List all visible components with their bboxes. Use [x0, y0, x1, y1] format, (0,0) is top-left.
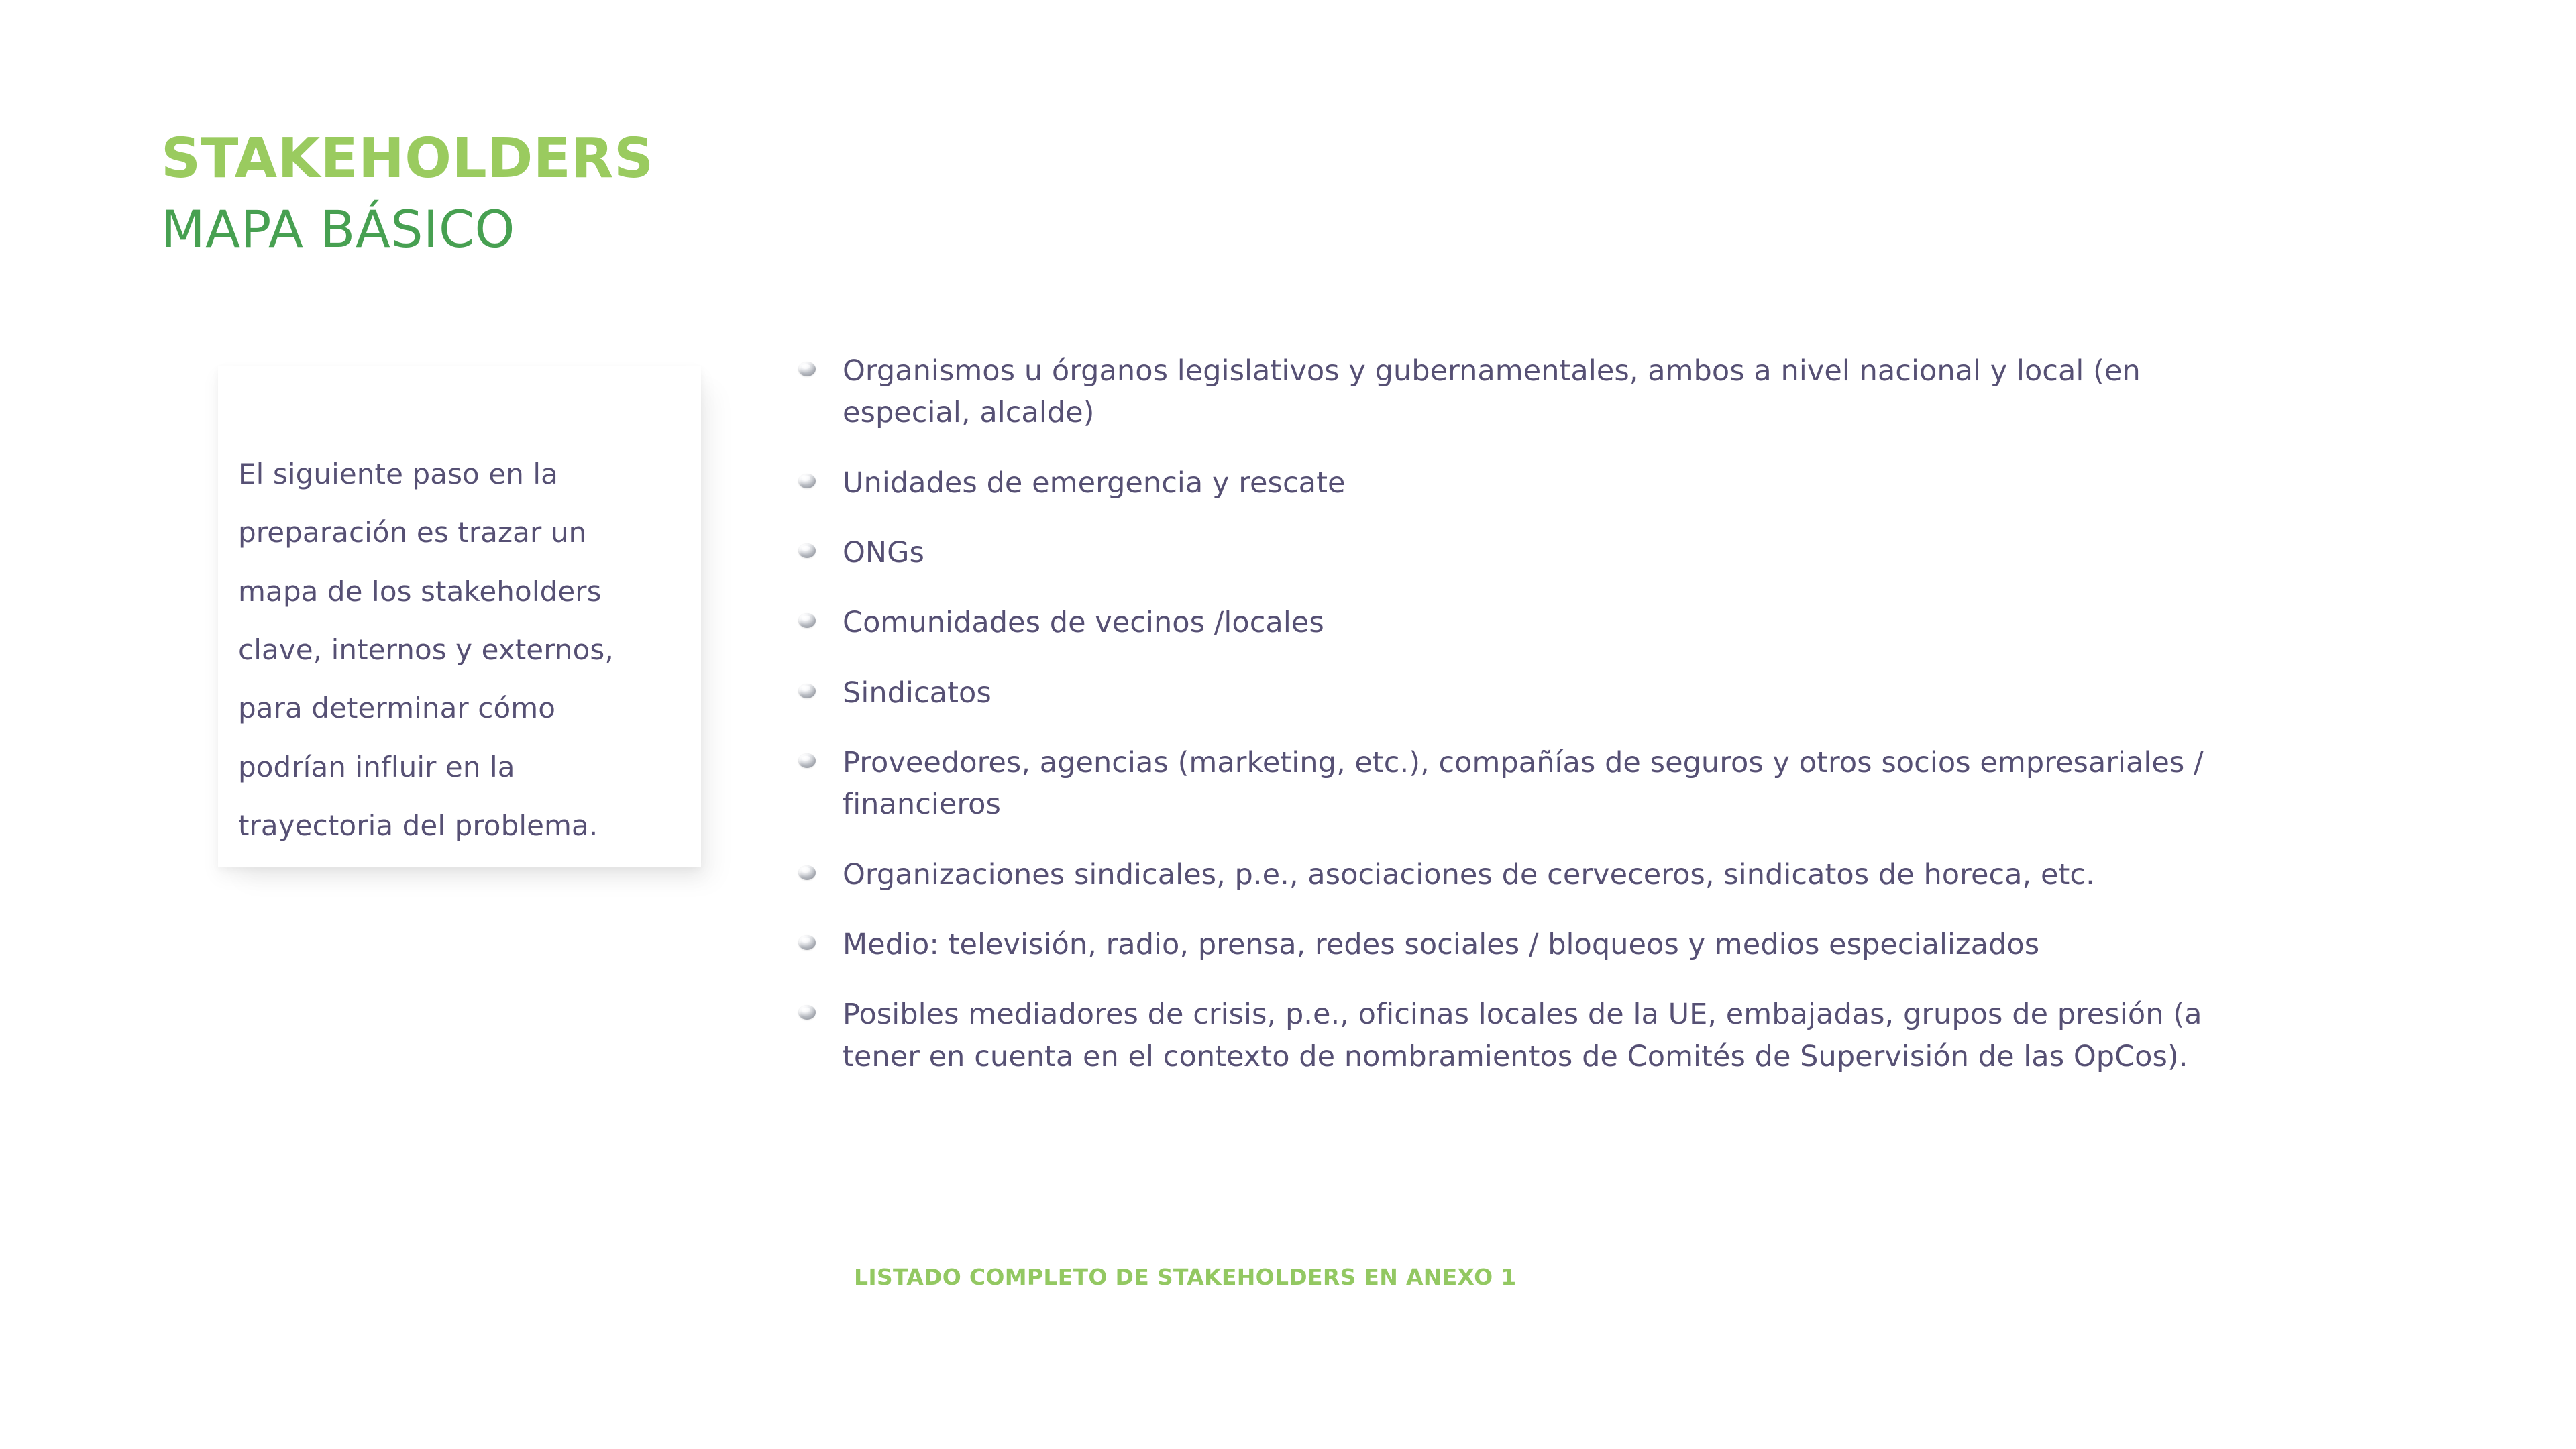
list-item-label: Comunidades de vecinos /locales — [843, 602, 1324, 643]
page-subtitle: MAPA BÁSICO — [161, 204, 899, 255]
sphere-bullet-icon — [798, 865, 816, 880]
list-item-label: Sindicatos — [843, 672, 991, 714]
sphere-bullet-icon — [798, 684, 816, 698]
list-item: ONGs — [798, 532, 2422, 574]
list-item: Medio: televisión, radio, prensa, redes … — [798, 924, 2422, 965]
list-item-label: ONGs — [843, 532, 924, 574]
list-item-label: Proveedores, agencias (marketing, etc.),… — [843, 742, 2251, 826]
sphere-bullet-icon — [798, 474, 816, 488]
slide-canvas: STAKEHOLDERS MAPA BÁSICO El siguiente pa… — [0, 0, 2576, 1449]
list-item-label: Organizaciones sindicales, p.e., asociac… — [843, 854, 2095, 896]
sphere-bullet-icon — [798, 935, 816, 950]
sphere-bullet-icon — [798, 362, 816, 376]
list-item-label: Organismos u órganos legislativos y gube… — [843, 350, 2251, 434]
page-title: STAKEHOLDERS — [161, 131, 899, 186]
list-item: Posibles mediadores de crisis, p.e., ofi… — [798, 994, 2422, 1077]
list-item-label: Posibles mediadores de crisis, p.e., ofi… — [843, 994, 2251, 1077]
sphere-bullet-icon — [798, 613, 816, 628]
sphere-bullet-icon — [798, 753, 816, 768]
title-block: STAKEHOLDERS MAPA BÁSICO — [161, 131, 899, 255]
list-item: Unidades de emergencia y rescate — [798, 462, 2422, 504]
list-item-label: Medio: televisión, radio, prensa, redes … — [843, 924, 2039, 965]
list-item: Comunidades de vecinos /locales — [798, 602, 2422, 643]
intro-card-text: El siguiente paso en la preparación es t… — [238, 445, 654, 855]
footnote-annex-reference: LISTADO COMPLETO DE STAKEHOLDERS EN ANEX… — [854, 1264, 1517, 1290]
stakeholder-bullet-list: Organismos u órganos legislativos y gube… — [798, 350, 2422, 1106]
list-item: Proveedores, agencias (marketing, etc.),… — [798, 742, 2422, 826]
list-item-label: Unidades de emergencia y rescate — [843, 462, 1346, 504]
intro-card: El siguiente paso en la preparación es t… — [218, 366, 701, 867]
list-item: Organizaciones sindicales, p.e., asociac… — [798, 854, 2422, 896]
list-item: Organismos u órganos legislativos y gube… — [798, 350, 2422, 434]
list-item: Sindicatos — [798, 672, 2422, 714]
sphere-bullet-icon — [798, 1005, 816, 1020]
sphere-bullet-icon — [798, 543, 816, 558]
